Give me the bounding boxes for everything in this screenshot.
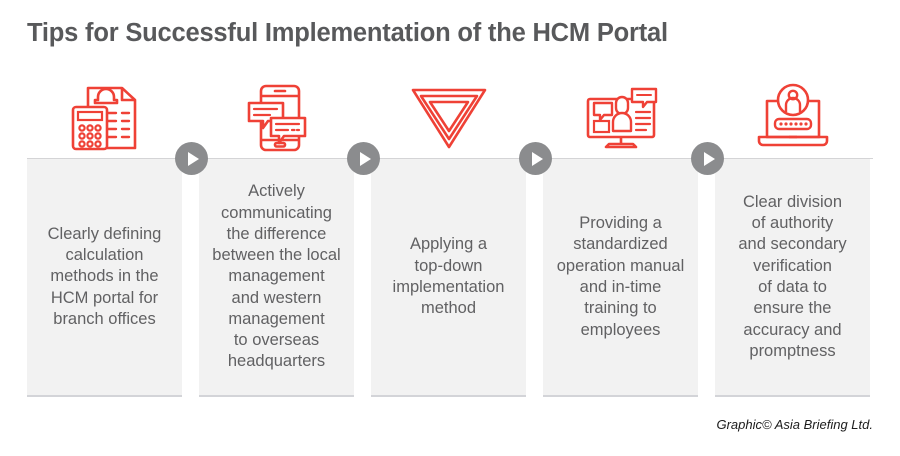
- laptop-login-user-icon: [755, 83, 831, 153]
- step-card-1: Clearly defining calculation methods in …: [27, 159, 182, 397]
- icons-row: [27, 78, 873, 158]
- graphic-credit: Graphic© Asia Briefing Ltd.: [716, 417, 873, 432]
- play-arrow-icon: [188, 152, 199, 166]
- steps-row: Clearly defining calculation methods in …: [27, 159, 873, 397]
- step-icon-2: [199, 78, 354, 158]
- step-icon-1: [27, 78, 182, 158]
- calculator-document-icon: [70, 85, 140, 151]
- smartphone-chat-icon: [246, 84, 308, 152]
- page-title: Tips for Successful Implementation of th…: [27, 19, 668, 48]
- step-text-4: Providing a standardized operation manua…: [551, 213, 691, 341]
- step-text-1: Clearly defining calculation methods in …: [42, 224, 168, 330]
- play-arrow-icon: [704, 152, 715, 166]
- step-icon-5: [715, 78, 870, 158]
- step-text-2: Actively communicating the difference be…: [206, 181, 346, 373]
- connector-arrow-4: [691, 142, 724, 175]
- connector-arrow-2: [347, 142, 380, 175]
- infographic-canvas: Tips for Successful Implementation of th…: [0, 0, 900, 456]
- connector-arrow-3: [519, 142, 552, 175]
- step-card-5: Clear division of authority and secondar…: [715, 159, 870, 397]
- monitor-training-icon: [580, 85, 662, 151]
- connector-arrow-1: [175, 142, 208, 175]
- step-card-2: Actively communicating the difference be…: [199, 159, 354, 397]
- step-card-4: Providing a standardized operation manua…: [543, 159, 698, 397]
- step-text-3: Applying a top-down implementation metho…: [387, 234, 511, 319]
- play-arrow-icon: [360, 152, 371, 166]
- step-icon-3: [371, 78, 526, 158]
- nested-triangles-icon: [409, 85, 489, 151]
- play-arrow-icon: [532, 152, 543, 166]
- step-icon-4: [543, 78, 698, 158]
- step-text-5: Clear division of authority and secondar…: [732, 192, 852, 362]
- step-card-3: Applying a top-down implementation metho…: [371, 159, 526, 397]
